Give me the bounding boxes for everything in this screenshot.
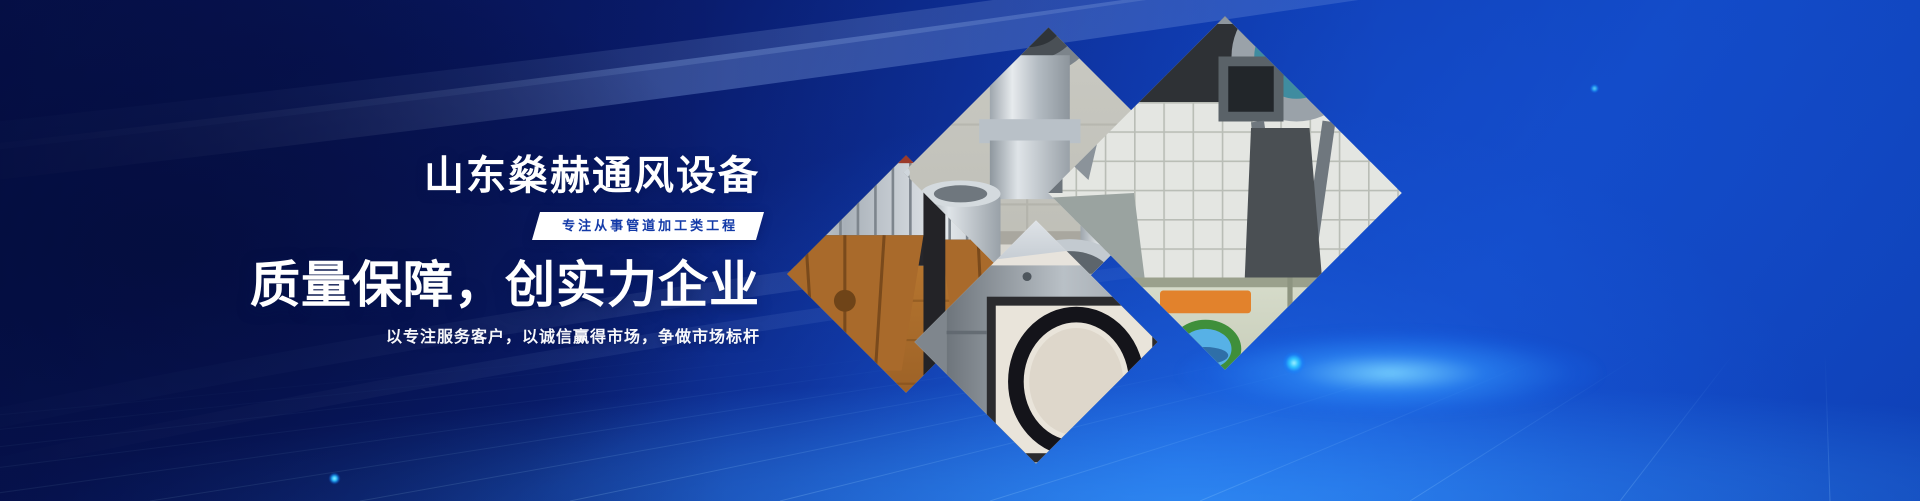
- hero-headline: 质量保障，创实力企业: [250, 260, 760, 310]
- hero-text-block: 山东燊赫通风设备 专注从事管道加工类工程 质量保障，创实力企业 以专注服务客户，…: [0, 0, 790, 501]
- service-badge: 专注从事管道加工类工程: [532, 212, 764, 240]
- hero-banner: 山东燊赫通风设备 专注从事管道加工类工程 质量保障，创实力企业 以专注服务客户，…: [0, 0, 1920, 501]
- hero-tagline: 以专注服务客户，以诚信赢得市场，争做市场标杆: [386, 330, 760, 346]
- brand-title: 山东燊赫通风设备: [424, 156, 760, 196]
- diamond-photo-collage: [800, 0, 1920, 501]
- service-badge-label: 专注从事管道加工类工程: [562, 219, 738, 232]
